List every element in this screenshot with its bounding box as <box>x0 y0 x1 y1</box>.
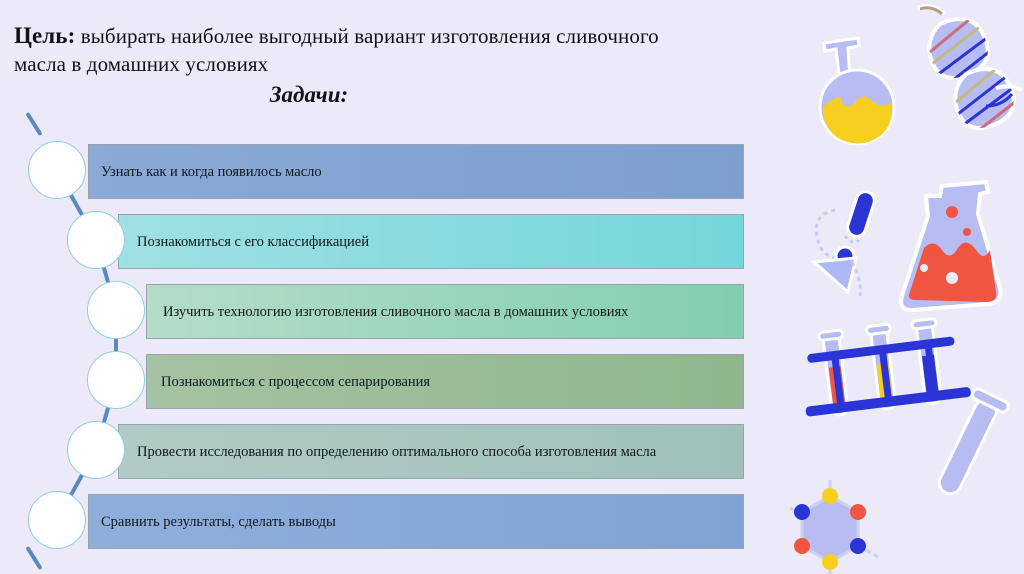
dna-helix <box>918 6 1022 134</box>
task-step[interactable]: Сравнить результаты, сделать выводы <box>88 494 744 549</box>
task-step[interactable]: Изучить технологию изготовления сливочно… <box>146 284 744 339</box>
test-tube-empty <box>928 387 1009 501</box>
task-bar: Узнать как и когда появилось масло <box>88 144 744 199</box>
microscope <box>814 189 877 296</box>
goal-text: выбирать наиболее выгодный вариант изгот… <box>14 24 659 76</box>
task-step[interactable]: Познакомиться с его классификацией <box>118 214 744 269</box>
task-text: Провести исследования по определению опт… <box>119 443 670 461</box>
benzene-molecule <box>790 480 880 574</box>
task-node-circle[interactable] <box>87 281 145 339</box>
task-step[interactable]: Провести исследования по определению опт… <box>118 424 744 479</box>
tasks-title: Задачи: <box>14 82 714 108</box>
task-bar: Познакомиться с его классификацией <box>118 214 744 269</box>
task-bar: Провести исследования по определению опт… <box>118 424 744 479</box>
task-node-circle[interactable] <box>67 211 125 269</box>
task-node-circle[interactable] <box>28 141 86 199</box>
test-tube-rack <box>797 315 972 419</box>
heading-block: Цель: выбирать наиболее выгодный вариант… <box>14 22 714 108</box>
task-node-circle[interactable] <box>67 421 125 479</box>
task-connector-stub-bottom <box>25 546 42 570</box>
task-connector-stub-top <box>25 112 42 136</box>
task-text: Изучить технологию изготовления сливочно… <box>147 303 642 321</box>
goal-label: Цель: <box>14 23 75 48</box>
task-text: Познакомиться с процессом сепарирования <box>147 373 444 391</box>
erlenmeyer-flask-red <box>901 182 1000 310</box>
task-bar: Изучить технологию изготовления сливочно… <box>146 284 744 339</box>
slide-root: Цель: выбирать наиболее выгодный вариант… <box>0 0 1024 574</box>
task-text: Сравнить результаты, сделать выводы <box>89 513 350 531</box>
task-text: Узнать как и когда появилось масло <box>89 163 336 181</box>
task-step[interactable]: Узнать как и когда появилось масло <box>88 144 744 199</box>
task-node-circle[interactable] <box>28 491 86 549</box>
round-bottom-flask-yellow <box>820 38 894 144</box>
task-text: Познакомиться с его классификацией <box>119 233 383 251</box>
task-bar: Сравнить результаты, сделать выводы <box>88 494 744 549</box>
science-illustrations <box>790 0 1024 574</box>
goal-line: Цель: выбирать наиболее выгодный вариант… <box>14 22 714 78</box>
task-step[interactable]: Познакомиться с процессом сепарирования <box>146 354 744 409</box>
task-node-circle[interactable] <box>87 351 145 409</box>
task-bar: Познакомиться с процессом сепарирования <box>146 354 744 409</box>
tasks-list: Узнать как и когда появилось маслоПознак… <box>0 128 790 574</box>
